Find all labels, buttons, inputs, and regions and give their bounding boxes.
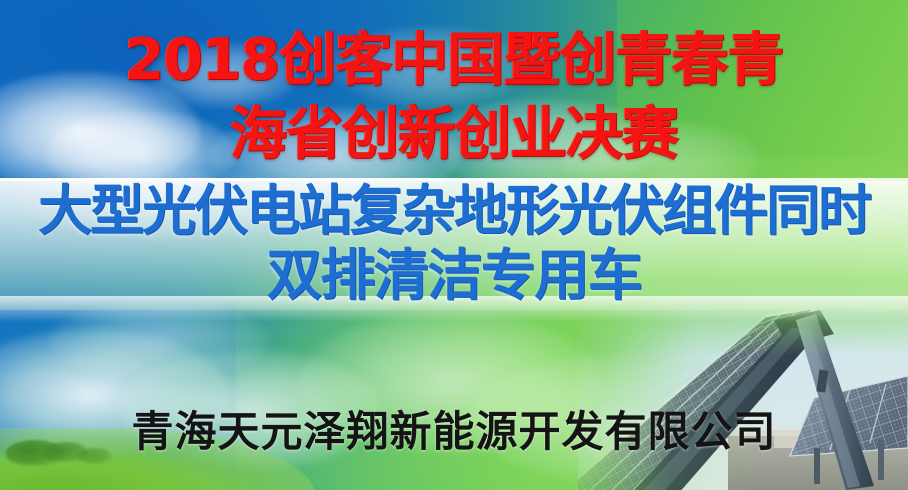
project-title-line-2: 双排清洁专用车 <box>0 248 908 303</box>
company-name: 青海天元泽翔新能源开发有限公司 <box>0 411 908 453</box>
event-title-line-1: 2018创客中国暨创青春青 <box>0 32 908 89</box>
poster-image: 2018创客中国暨创青春青 海省创新创业决赛 大型光伏电站复杂地形光伏组件同时 … <box>0 0 908 490</box>
event-title-line-2: 海省创新创业决赛 <box>0 106 908 163</box>
project-title-line-1: 大型光伏电站复杂地形光伏组件同时 <box>0 184 908 238</box>
